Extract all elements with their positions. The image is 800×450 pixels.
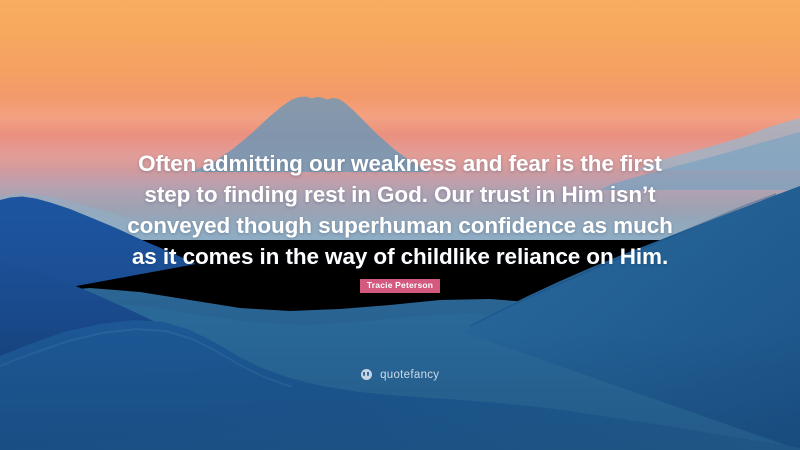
watermark: quotefancy	[0, 366, 800, 384]
front-central-massif	[0, 320, 800, 450]
watermark-brand-text: quotefancy	[380, 369, 439, 381]
quote-wallpaper: Often admitting our weakness and fear is…	[0, 0, 800, 450]
quote-text: Often admitting our weakness and fear is…	[120, 148, 680, 272]
watermark-inner[interactable]: quotefancy	[361, 366, 440, 384]
author-attribution: Tracie Peterson	[0, 279, 800, 297]
quote-block: Often admitting our weakness and fear is…	[0, 148, 800, 272]
author-name-badge[interactable]: Tracie Peterson	[360, 279, 440, 293]
quote-mark-badge-icon	[361, 369, 372, 380]
